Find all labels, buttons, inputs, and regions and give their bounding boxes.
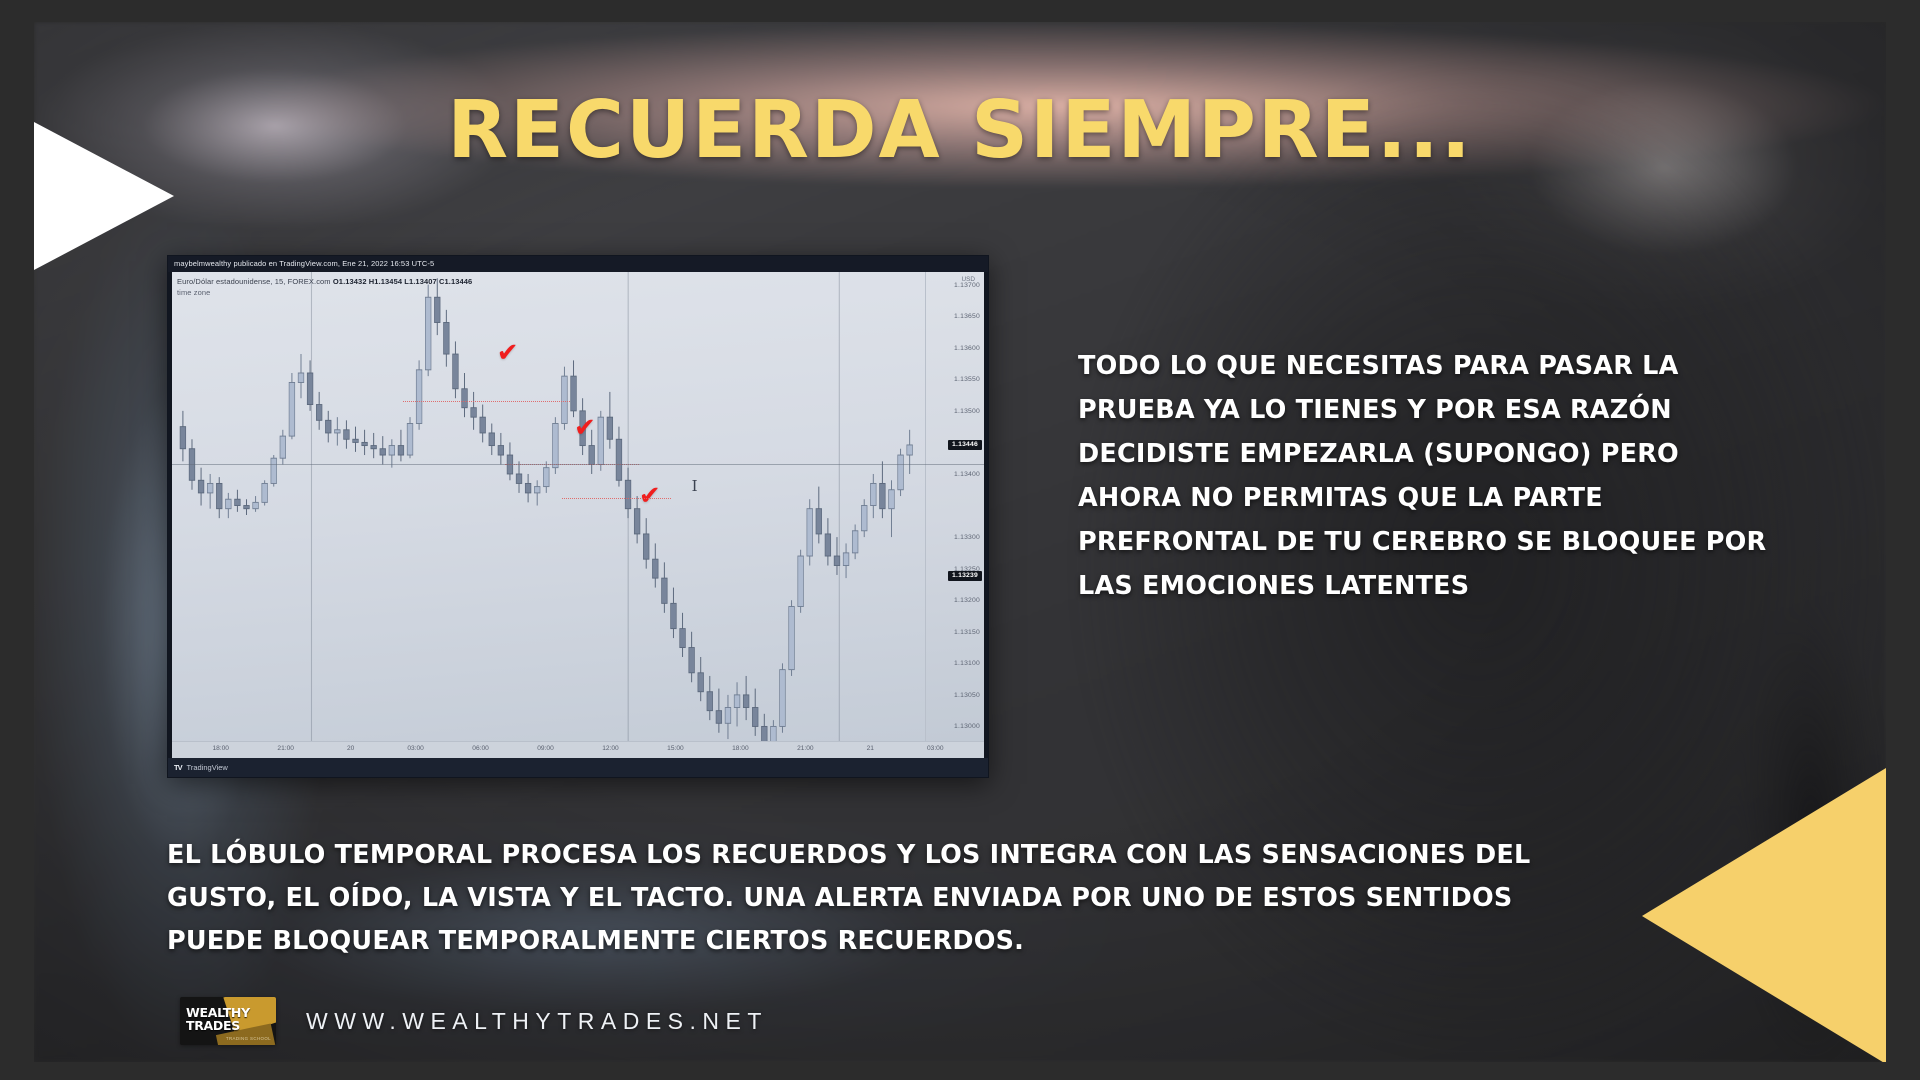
slide-frame: RECUERDA SIEMPRE... maybelmwealthy publi… xyxy=(0,0,1920,1080)
price-axis-tick: 1.13700 xyxy=(954,282,980,289)
price-axis-tick: 1.13000 xyxy=(954,723,980,730)
price-axis-tick: 1.13150 xyxy=(954,629,980,636)
time-axis-tick: 06:00 xyxy=(472,745,489,752)
price-badge-current-price: 1.13446 xyxy=(948,440,982,450)
chart-footer: TV TradingView xyxy=(168,758,988,777)
brand-logo-text: WEALTHY TRADES xyxy=(186,1006,250,1032)
chart-legend-ohlc: O1.13432 H1.13454 L1.13407 C1.13446 xyxy=(333,277,472,286)
site-url[interactable]: WWW.WEALTHYTRADES.NET xyxy=(306,1008,768,1035)
price-axis-tick: 1.13500 xyxy=(954,408,980,415)
time-axis-tick: 15:00 xyxy=(667,745,684,752)
price-axis-tick: 1.13050 xyxy=(954,692,980,699)
text-cursor-icon: I xyxy=(692,479,698,494)
time-axis-tick: 03:00 xyxy=(407,745,424,752)
brand-logo-subtitle: TRADING SCHOOL xyxy=(226,1036,271,1041)
paragraph-bottom: EL LÓBULO TEMPORAL PROCESA LOS RECUERDOS… xyxy=(167,834,1617,963)
price-axis-tick: 1.13300 xyxy=(954,534,980,541)
support-resistance-line[interactable] xyxy=(403,401,569,402)
checkmark-annotation-icon: ✔ xyxy=(574,415,596,441)
decorative-triangle-right-icon xyxy=(1642,768,1886,1062)
support-resistance-line[interactable] xyxy=(562,498,672,499)
brand-logo-icon: WEALTHY TRADES TRADING SCHOOL xyxy=(180,997,276,1045)
time-axis-tick: 09:00 xyxy=(537,745,554,752)
price-axis-tick: 1.13650 xyxy=(954,313,980,320)
price-axis[interactable]: USD 1.137001.136501.136001.135501.135001… xyxy=(925,272,984,758)
price-axis-tick: 1.13550 xyxy=(954,376,980,383)
time-axis-tick: 21:00 xyxy=(277,745,294,752)
checkmark-annotation-icon: ✔ xyxy=(497,340,519,366)
time-axis-tick: 18:00 xyxy=(212,745,229,752)
time-axis-tick: 21:00 xyxy=(797,745,814,752)
time-axis-tick: 03:00 xyxy=(927,745,944,752)
price-axis-tick: 1.13200 xyxy=(954,597,980,604)
time-axis-tick: 21 xyxy=(867,745,874,752)
tradingview-watermark-label: TradingView xyxy=(187,763,228,772)
paragraph-right: TODO LO QUE NECESITAS PARA PASAR LA PRUE… xyxy=(1078,344,1778,608)
price-axis-tick: 1.13600 xyxy=(954,345,980,352)
tradingview-logo-icon: TV xyxy=(174,763,182,772)
page-title: RECUERDA SIEMPRE... xyxy=(34,84,1886,176)
chart-plot-area[interactable] xyxy=(172,272,926,758)
slide-canvas: RECUERDA SIEMPRE... maybelmwealthy publi… xyxy=(34,22,1886,1062)
checkmark-annotation-icon: ✔ xyxy=(639,483,661,509)
price-axis-tick: 1.13400 xyxy=(954,471,980,478)
tradingview-chart-panel: maybelmwealthy publicado en TradingView.… xyxy=(167,255,989,778)
crosshair-horizontal-line xyxy=(172,464,984,465)
price-axis-tick: 1.13100 xyxy=(954,660,980,667)
time-axis-tick: 12:00 xyxy=(602,745,619,752)
time-axis-tick: 18:00 xyxy=(732,745,749,752)
chart-body: Euro/Dólar estadounidense, 15, FOREX.com… xyxy=(172,272,984,758)
brand-logo-line2: TRADES xyxy=(186,1018,240,1033)
chart-titlebar: maybelmwealthy publicado en TradingView.… xyxy=(168,256,988,272)
price-badge-countdown-price: 1.13239 xyxy=(948,571,982,581)
chart-legend-timezone: time zone xyxy=(177,287,472,298)
time-axis[interactable]: 18:0021:002003:0006:0009:0012:0015:0018:… xyxy=(172,741,984,758)
time-axis-tick: 20 xyxy=(347,745,354,752)
footer: WEALTHY TRADES TRADING SCHOOL WWW.WEALTH… xyxy=(180,997,768,1045)
candlestick-series xyxy=(172,272,926,758)
chart-legend: Euro/Dólar estadounidense, 15, FOREX.com… xyxy=(177,276,472,298)
chart-legend-symbol: Euro/Dólar estadounidense, 15, FOREX.com xyxy=(177,277,331,286)
